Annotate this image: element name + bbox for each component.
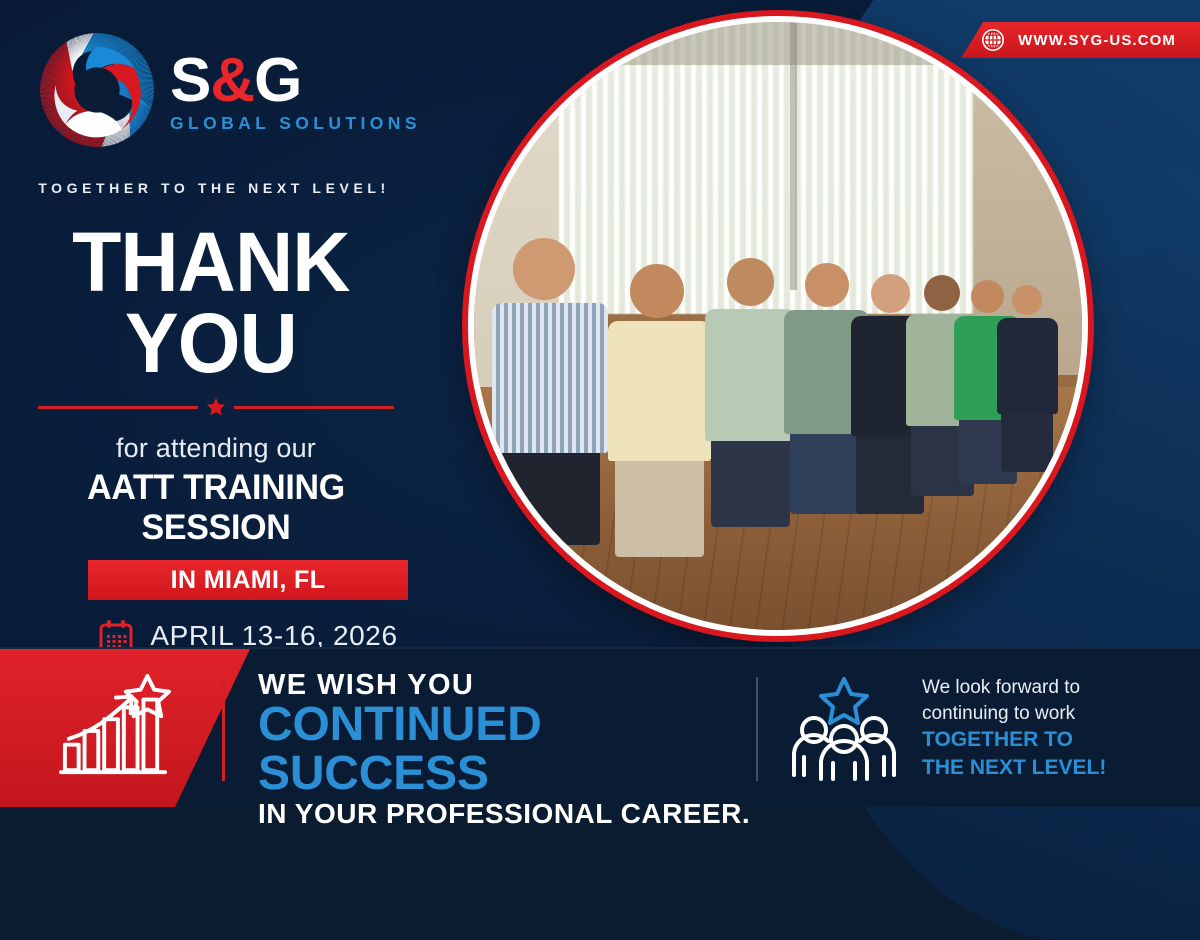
brand-tagline: TOGETHER TO THE NEXT LEVEL! [38, 180, 390, 196]
brand-name-s: S [170, 46, 210, 115]
website-url-badge[interactable]: WWW.SYG-US.COM [961, 22, 1200, 58]
people-star-icon [788, 675, 900, 783]
divider-line-left [38, 406, 198, 409]
photo-person [705, 258, 796, 526]
wish-message: WE WISH YOU CONTINUED SUCCESS IN YOUR PR… [258, 669, 758, 830]
photo-content [474, 22, 1082, 630]
swirl-aperture-logo-icon [38, 31, 156, 149]
banner-vertical-divider [756, 677, 758, 781]
wish-line-3: IN YOUR PROFESSIONAL CAREER. [258, 798, 758, 830]
look-bold-line-2: THE NEXT LEVEL! [922, 754, 1192, 782]
look-line-1: We look forward to [922, 675, 1192, 701]
photo-person [997, 285, 1058, 472]
wish-line-2: CONTINUED SUCCESS [258, 701, 758, 799]
growth-chart-star-icon [55, 674, 173, 782]
divider-line-right [234, 406, 394, 409]
brand-subtitle: GLOBAL SOLUTIONS [170, 113, 423, 134]
photo-window-mullion [790, 22, 797, 290]
banner-red-block [0, 649, 250, 807]
brand-logo: S&G GLOBAL SOLUTIONS [38, 30, 458, 150]
globe-icon [981, 28, 1005, 52]
look-forward-message: We look forward to continuing to work TO… [922, 675, 1192, 782]
brand-name-g: G [254, 46, 301, 115]
website-url-text: WWW.SYG-US.COM [1018, 32, 1176, 49]
session-name: AATT TRAINING SESSION [43, 468, 388, 548]
brand-name-ampersand: & [210, 46, 254, 115]
title-divider [38, 397, 394, 417]
photo-person [608, 264, 711, 557]
group-photo [468, 16, 1088, 636]
subtitle-for-attending: for attending our [38, 433, 394, 464]
photo-window-top-frame [559, 22, 972, 65]
location-badge: IN MIAMI, FL [88, 560, 408, 600]
brand-name: S&G [170, 52, 423, 109]
banner-red-divider [222, 677, 225, 781]
bottom-banner: WE WISH YOU CONTINUED SUCCESS IN YOUR PR… [0, 647, 1200, 807]
look-bold-line-1: TOGETHER TO [922, 726, 1192, 754]
look-line-2: continuing to work [922, 701, 1192, 727]
photo-person [492, 238, 608, 545]
brand-wordmark: S&G GLOBAL SOLUTIONS [170, 46, 423, 134]
star-icon [206, 397, 226, 417]
page-title: THANK YOU [38, 222, 384, 383]
